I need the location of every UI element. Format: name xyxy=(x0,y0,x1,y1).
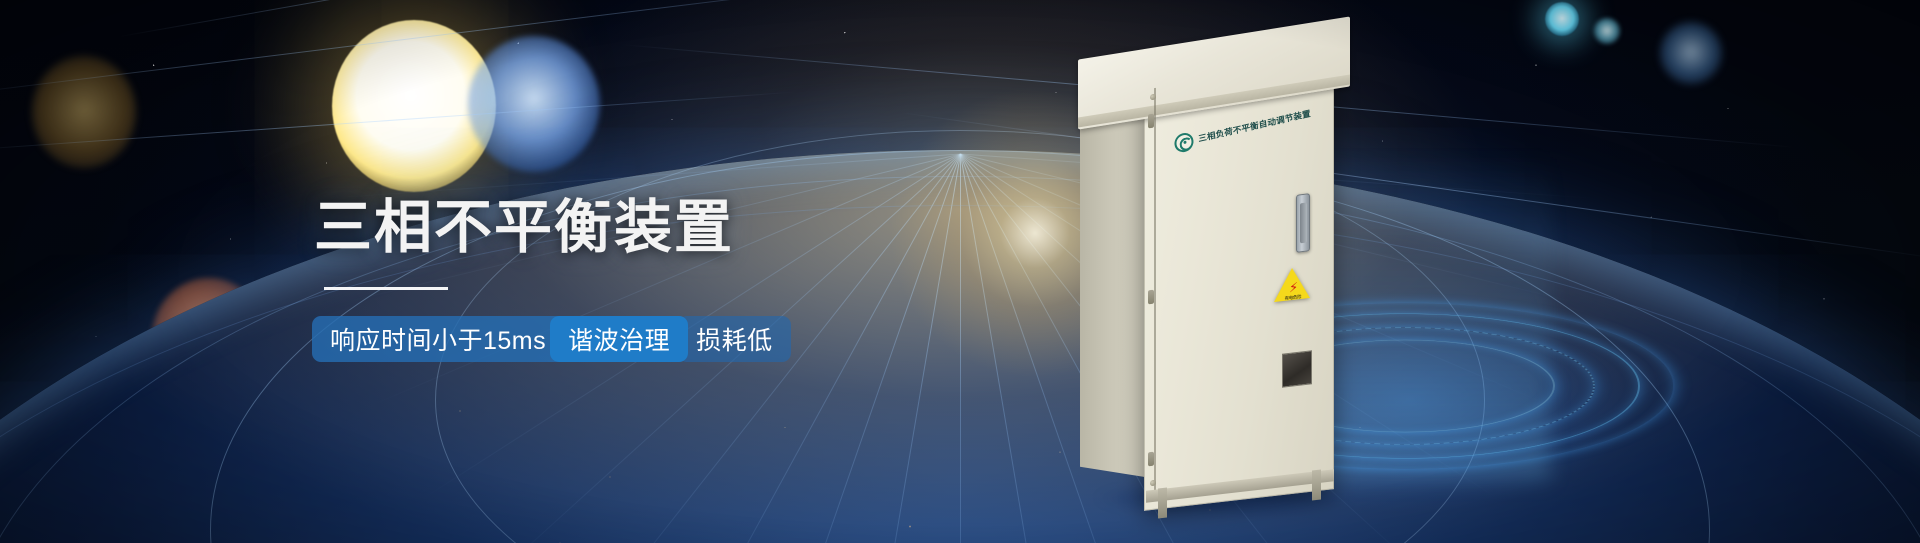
cabinet-hinge-top xyxy=(1148,114,1154,129)
cabinet-door-seam xyxy=(1154,88,1156,492)
banner-copy: 三相不平衡装置 响应时间小于15ms 谐波治理 损耗低 xyxy=(314,196,994,362)
cabinet-foot-right xyxy=(1312,469,1321,500)
product-cabinet: 三相负荷不平衡自动调节装置 ⚡ 有电危险 xyxy=(1050,22,1370,502)
feature-tag-list: 响应时间小于15ms 谐波治理 损耗低 xyxy=(312,316,994,362)
feature-tag-response-time[interactable]: 响应时间小于15ms xyxy=(312,316,564,362)
cabinet-door-handle xyxy=(1296,193,1310,253)
cabinet-side-panel xyxy=(1080,69,1146,477)
cabinet-hinge-middle xyxy=(1148,290,1154,305)
feature-tag-harmonic-control[interactable]: 谐波治理 xyxy=(550,316,688,362)
cabinet-hinge-bottom xyxy=(1148,452,1154,467)
lightning-bolt-icon: ⚡ xyxy=(1289,281,1296,296)
feature-tag-low-loss[interactable]: 损耗低 xyxy=(678,316,791,362)
company-logo-icon xyxy=(1173,131,1194,154)
cabinet-vent-window xyxy=(1282,350,1312,387)
cabinet-foot-left xyxy=(1158,487,1167,518)
hero-banner: 三相负荷不平衡自动调节装置 ⚡ 有电危险 三相不平衡装置 响应时间小于15ms … xyxy=(0,0,1920,543)
page-title: 三相不平衡装置 xyxy=(314,196,994,261)
title-divider xyxy=(324,287,448,290)
electric-hazard-sticker: ⚡ 有电危险 xyxy=(1274,266,1310,304)
